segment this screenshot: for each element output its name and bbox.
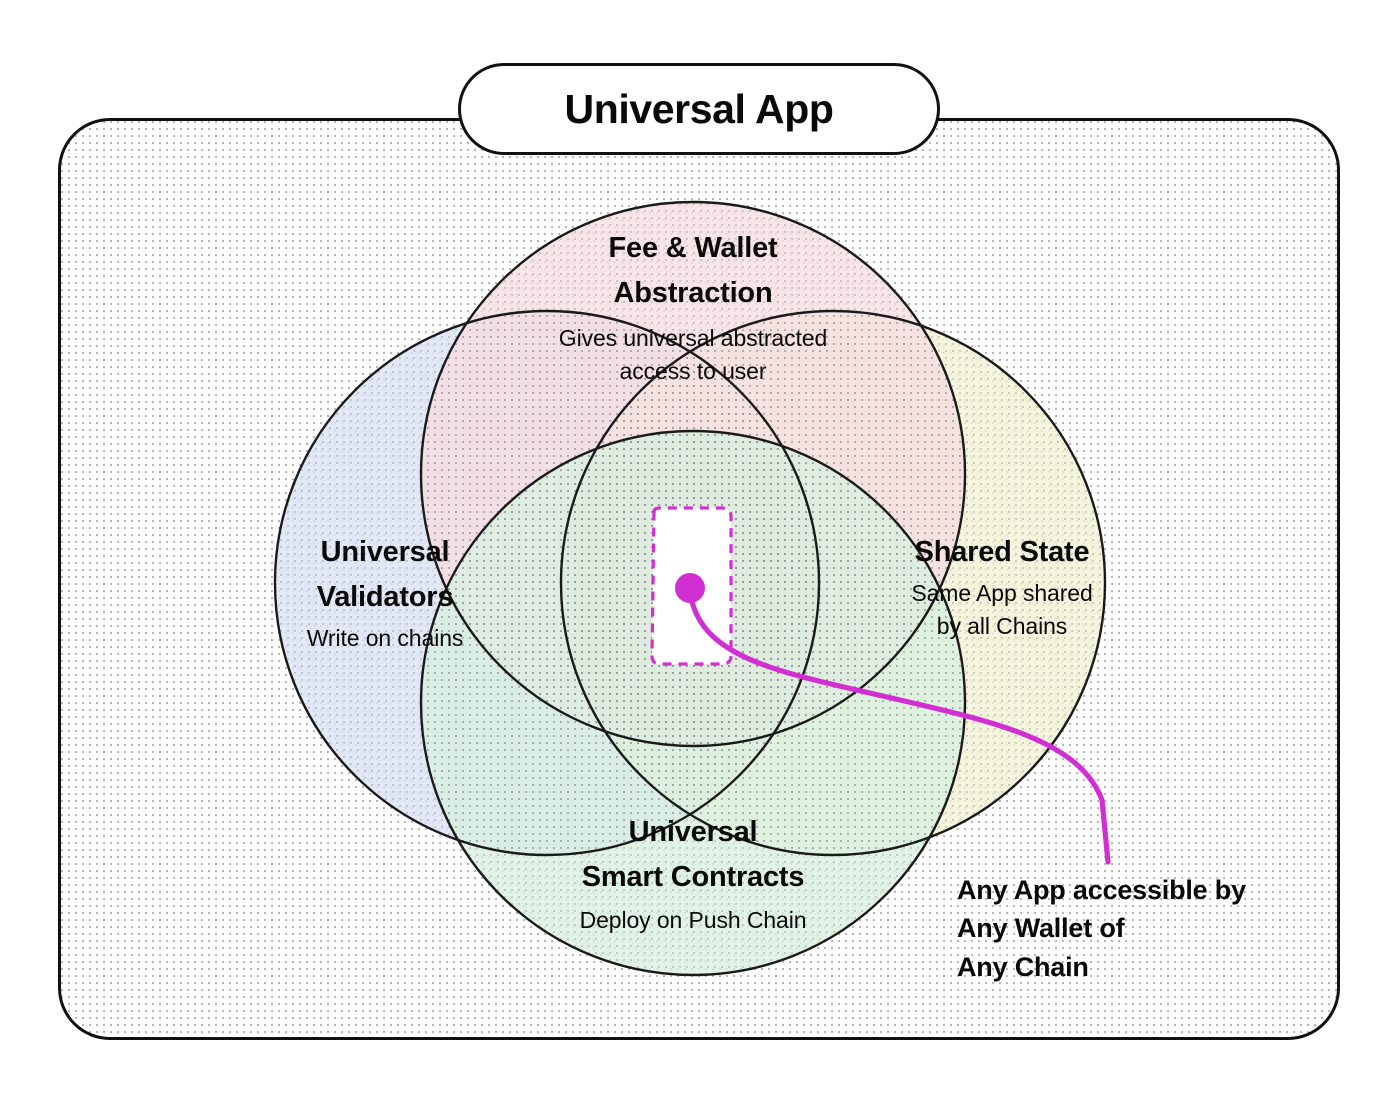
diagram-canvas: Universal App Fee & Wallet Abstraction G… (0, 0, 1394, 1116)
callout-text: Any App accessible by Any Wallet of Any … (957, 871, 1357, 986)
page-title: Universal App (565, 86, 834, 133)
diagram-title-pill: Universal App (458, 63, 940, 155)
